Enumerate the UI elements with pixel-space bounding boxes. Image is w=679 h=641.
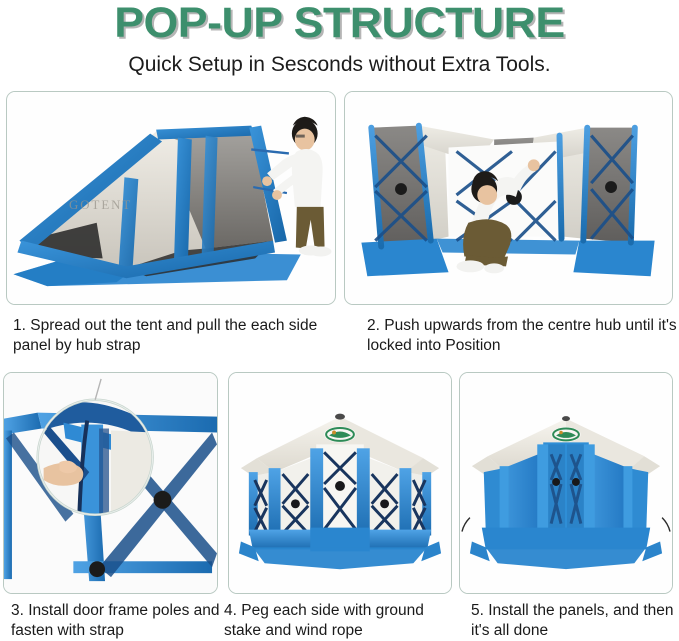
page-title: POP-UP STRUCTURE xyxy=(0,2,679,46)
step-caption-1: 1. Spread out the tent and pull the each… xyxy=(13,316,333,356)
step-4-illustration xyxy=(229,373,451,593)
page-subtitle: Quick Setup in Sesconds without Extra To… xyxy=(0,53,679,76)
step-caption-2: 2. Push upwards from the centre hub unti… xyxy=(367,316,677,356)
step-image-2 xyxy=(344,91,673,305)
brand-logo-badge xyxy=(324,427,356,443)
header: POP-UP STRUCTURE Quick Setup in Sesconds… xyxy=(0,0,679,76)
step-caption-5: 5. Install the panels, and then it's all… xyxy=(471,601,679,641)
step-caption-4: 4. Peg each side with ground stake and w… xyxy=(224,601,449,641)
step-image-3 xyxy=(3,372,218,594)
svg-text:GOTENT: GOTENT xyxy=(69,198,132,212)
step-1-illustration: GOTENT xyxy=(7,92,335,304)
step-2-illustration xyxy=(345,92,672,304)
step-image-5 xyxy=(459,372,673,594)
infographic-page: POP-UP STRUCTURE Quick Setup in Sesconds… xyxy=(0,0,679,641)
step-3-illustration xyxy=(4,373,217,593)
steps-row-top: GOTENT xyxy=(0,91,679,306)
step-image-1: GOTENT xyxy=(6,91,336,305)
steps-row-bottom xyxy=(0,372,679,595)
brand-logo-badge xyxy=(551,427,581,442)
step-image-4 xyxy=(228,372,452,594)
step-5-illustration xyxy=(460,373,672,593)
step-caption-3: 3. Install door frame poles and fasten w… xyxy=(11,601,221,641)
